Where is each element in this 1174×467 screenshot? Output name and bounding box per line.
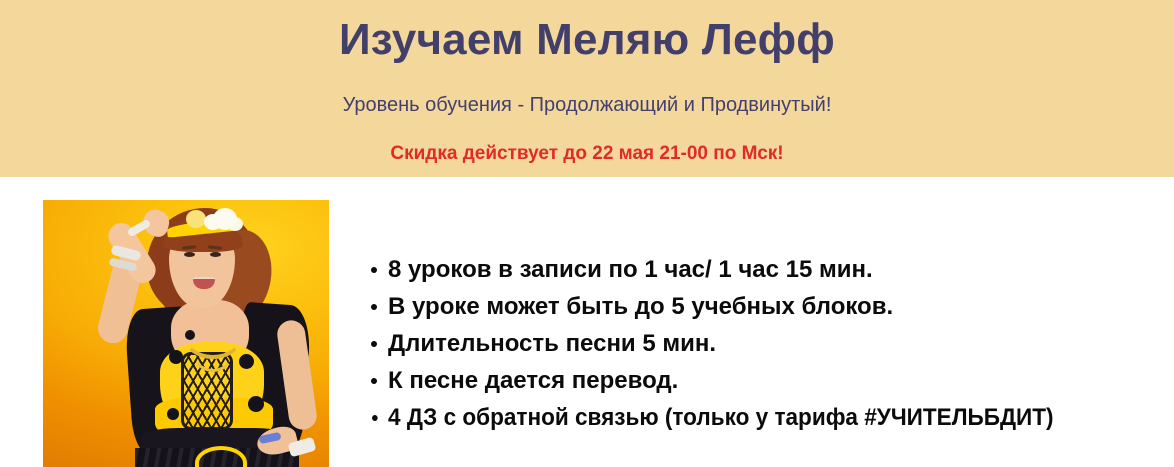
flower-icon-2: [213, 208, 237, 230]
eye-left: [184, 252, 195, 257]
list-item: 8 уроков в записи по 1 час/ 1 час 15 мин…: [388, 251, 1096, 288]
content-area: 8 уроков в записи по 1 час/ 1 час 15 мин…: [0, 177, 1174, 467]
landing-page: Изучаем Меляю Лефф Уровень обучения - Пр…: [0, 0, 1174, 467]
list-item: К песне дается перевод.: [388, 362, 1096, 399]
course-features-list: 8 уроков в записи по 1 час/ 1 час 15 мин…: [366, 251, 1096, 436]
flower-icon: [186, 210, 206, 228]
page-title: Изучаем Меляю Лефф: [0, 14, 1174, 66]
page-subtitle: Уровень обучения - Продолжающий и Продви…: [0, 92, 1174, 118]
necklace-icon-2: [189, 318, 237, 372]
list-item: 4 ДЗ с обратной связью (только у тарифа …: [388, 399, 1054, 436]
instructor-photo-image: [43, 200, 329, 467]
list-item: В уроке может быть до 5 учебных блоков.: [388, 288, 1096, 325]
instructor-photo: [43, 200, 329, 467]
polka-dot: [167, 408, 179, 420]
promo-deadline-text: Скидка действует до 22 мая 21-00 по Мск!: [0, 142, 1174, 166]
header-banner: Изучаем Меляю Лефф Уровень обучения - Пр…: [0, 0, 1174, 177]
polka-dot: [248, 396, 264, 412]
polka-dot: [239, 354, 254, 369]
list-item: Длительность песни 5 мин.: [388, 325, 1096, 362]
eye-right: [210, 252, 221, 257]
